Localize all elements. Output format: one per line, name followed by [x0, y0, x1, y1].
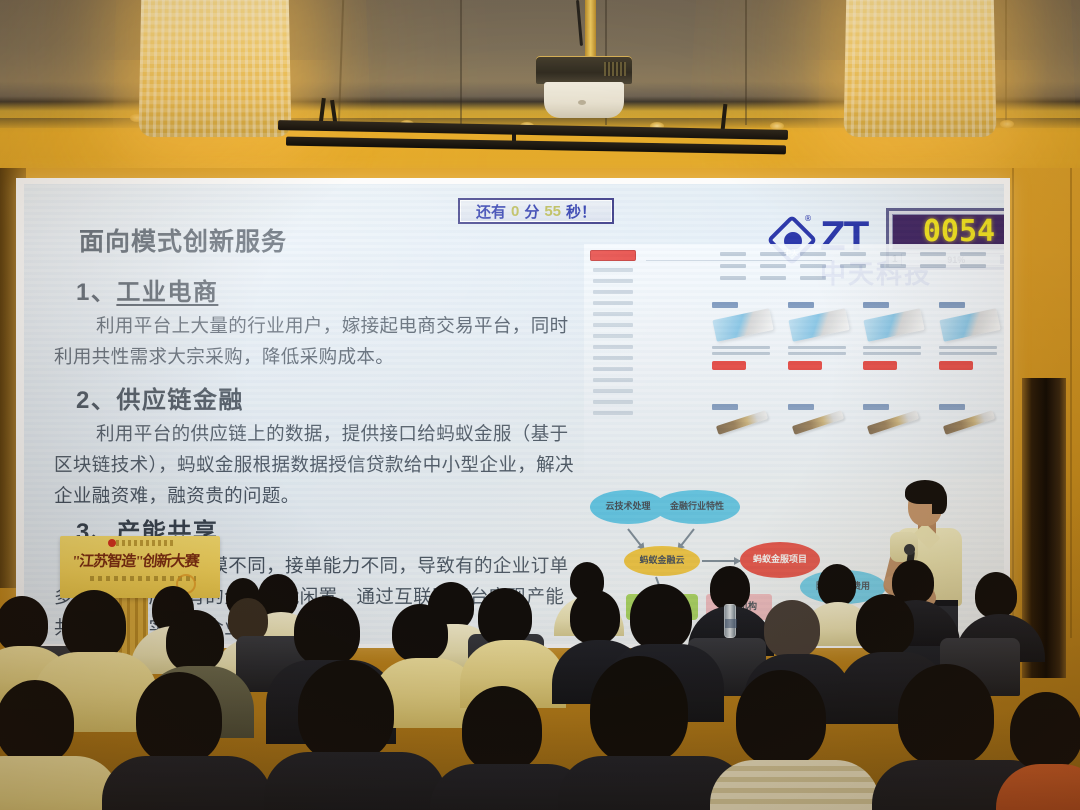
table-cell	[800, 276, 826, 280]
product-brand-icon	[939, 404, 965, 410]
catalog-product-card	[939, 302, 1003, 370]
shoulders	[710, 760, 880, 810]
diagram-arrow	[627, 528, 645, 550]
chandelier-right-icon	[844, 0, 997, 137]
head	[478, 588, 532, 646]
projector-lens	[578, 100, 586, 105]
slide-section-2-body: 利用平台的供应链上的数据，提供接口给蚂蚁金服（基于区块链技术），蚂蚁金服根据数据…	[54, 418, 574, 511]
table-cell	[760, 276, 786, 280]
catalog-sidebar-item	[593, 323, 633, 327]
slide-title: 面向模式创新服务	[79, 222, 287, 258]
product-cta-button[interactable]	[939, 361, 973, 370]
conference-photo: 面向模式创新服务 还有 0 分 55 秒！ 中天 ® ZT 中天科技 0054	[0, 0, 1080, 810]
head	[1010, 692, 1080, 770]
product-desc-line	[863, 346, 921, 349]
table-cell	[800, 264, 826, 268]
catalog-sidebar-item	[593, 268, 633, 272]
head	[898, 664, 994, 766]
downlight	[1000, 120, 1014, 128]
catalog-sidebar-active-item	[590, 250, 636, 261]
bottle-label	[725, 619, 737, 628]
product-desc-line	[939, 346, 997, 349]
diagram-node: 金融行业特性	[654, 490, 740, 524]
podium-logo-icon	[108, 539, 116, 547]
section-2-title: 供应链金融	[116, 387, 244, 414]
timer-seconds: 55	[544, 203, 561, 220]
table-cell	[840, 264, 866, 268]
head	[462, 686, 542, 772]
head	[975, 572, 1017, 618]
table-cell	[920, 264, 946, 268]
product-image	[788, 308, 849, 342]
product-cta-button[interactable]	[863, 361, 897, 370]
head	[136, 672, 222, 764]
section-1-number: 1、	[76, 279, 116, 306]
table-cell	[840, 252, 866, 256]
head	[818, 564, 856, 606]
head	[62, 590, 126, 660]
head	[298, 660, 394, 762]
logo-mark-text: 中天	[784, 248, 798, 258]
catalog-product-card	[788, 302, 852, 370]
timer-second-unit: 秒！	[566, 201, 596, 222]
head	[590, 656, 688, 764]
head	[764, 600, 820, 658]
product-brand-icon	[712, 404, 738, 410]
catalog-product-card	[788, 404, 852, 427]
table-cell	[960, 264, 986, 268]
product-cta-button[interactable]	[712, 361, 746, 370]
product-brand-icon	[863, 302, 889, 308]
table-cell	[800, 252, 826, 256]
countdown-banner: 还有 0 分 55 秒！	[458, 198, 614, 224]
catalog-product-row	[712, 404, 1002, 427]
head	[736, 670, 826, 766]
catalog-product-row	[712, 302, 1002, 370]
head	[0, 596, 48, 652]
catalog-sidebar-item	[593, 378, 633, 382]
table-row	[720, 276, 990, 280]
catalog-sidebar-item	[593, 345, 633, 349]
product-image	[712, 308, 773, 342]
catalog-sidebar-item	[593, 301, 633, 305]
product-image	[716, 410, 768, 435]
product-brand-icon	[712, 302, 738, 308]
catalog-sidebar-item	[593, 312, 633, 316]
product-brand-icon	[939, 302, 965, 308]
product-image	[939, 308, 1000, 342]
table-cell	[760, 252, 786, 256]
product-desc-line	[712, 352, 770, 355]
section-2-number: 2、	[76, 387, 116, 414]
product-desc-line	[939, 352, 997, 355]
clock-digits: 0054	[923, 217, 995, 247]
ceiling-seam	[745, 0, 747, 125]
catalog-sidebar-item	[593, 290, 633, 294]
table-cell	[760, 264, 786, 268]
table-cell	[880, 252, 906, 256]
product-desc-line	[863, 352, 921, 355]
ceiling-seam	[460, 0, 462, 125]
catalog-spec-table	[720, 252, 990, 288]
product-image	[791, 410, 843, 435]
head	[392, 604, 448, 662]
product-desc-line	[788, 352, 846, 355]
table-cell	[960, 252, 986, 256]
catalog-sidebar-item	[593, 334, 633, 338]
water-bottle	[724, 604, 736, 638]
catalog-sidebar-item	[593, 367, 633, 371]
head	[0, 680, 74, 764]
catalog-sidebar-item	[593, 411, 633, 415]
catalog-sidebar-item	[593, 279, 633, 283]
product-image	[867, 410, 919, 435]
catalog-sidebar	[590, 250, 644, 422]
head	[294, 596, 360, 666]
head	[856, 594, 914, 656]
catalog-product-card	[712, 302, 776, 370]
head	[166, 610, 224, 672]
registered-icon: ®	[804, 214, 812, 223]
table-cell	[880, 264, 906, 268]
speaker-hair	[932, 488, 947, 514]
head	[630, 584, 692, 650]
product-brand-icon	[863, 404, 889, 410]
product-image	[942, 410, 994, 435]
timer-minute-unit: 分	[524, 201, 539, 222]
audience	[0, 560, 1080, 810]
catalog-product-card	[863, 302, 927, 370]
product-brand-icon	[788, 404, 814, 410]
catalog-product-card	[863, 404, 927, 427]
product-brand-icon	[788, 302, 814, 308]
catalog-sidebar-item	[593, 400, 633, 404]
table-cell	[720, 252, 746, 256]
catalog-sidebar-item	[593, 356, 633, 360]
timer-minutes: 0	[511, 203, 519, 220]
shoulders	[102, 756, 272, 810]
projector-vent	[604, 62, 626, 76]
podium-top-text	[116, 540, 176, 546]
ceiling-seam	[338, 0, 344, 125]
slide-section-1-body: 利用平台上大量的行业用户，嫁接起电商交易平台，同时利用共性需求大宗采购，降低采购…	[54, 310, 574, 372]
table-cell	[720, 264, 746, 268]
catalog-product-card	[712, 404, 776, 427]
chandelier-left-icon	[139, 0, 292, 137]
timer-prefix: 还有	[476, 201, 506, 222]
product-desc-line	[788, 346, 846, 349]
section-1-title: 工业电商	[116, 279, 218, 306]
catalog-sidebar-item	[593, 389, 633, 393]
catalog-product-card	[939, 404, 1003, 427]
slide-section-2-heading: 2、供应链金融	[76, 380, 244, 415]
ceiling-seam	[1005, 0, 1007, 125]
table-cell	[920, 252, 946, 256]
product-desc-line	[712, 346, 770, 349]
table-row	[720, 252, 990, 256]
shoulders	[264, 752, 446, 810]
projector-mount-pole	[585, 0, 596, 58]
product-cta-button[interactable]	[788, 361, 822, 370]
head	[570, 590, 620, 644]
microphone-head	[904, 544, 915, 555]
product-image	[863, 308, 924, 342]
embedded-catalog-screenshot	[584, 244, 1004, 474]
table-cell	[720, 276, 746, 280]
slide-section-1-heading: 1、工业电商	[76, 272, 218, 307]
table-row	[720, 264, 990, 268]
